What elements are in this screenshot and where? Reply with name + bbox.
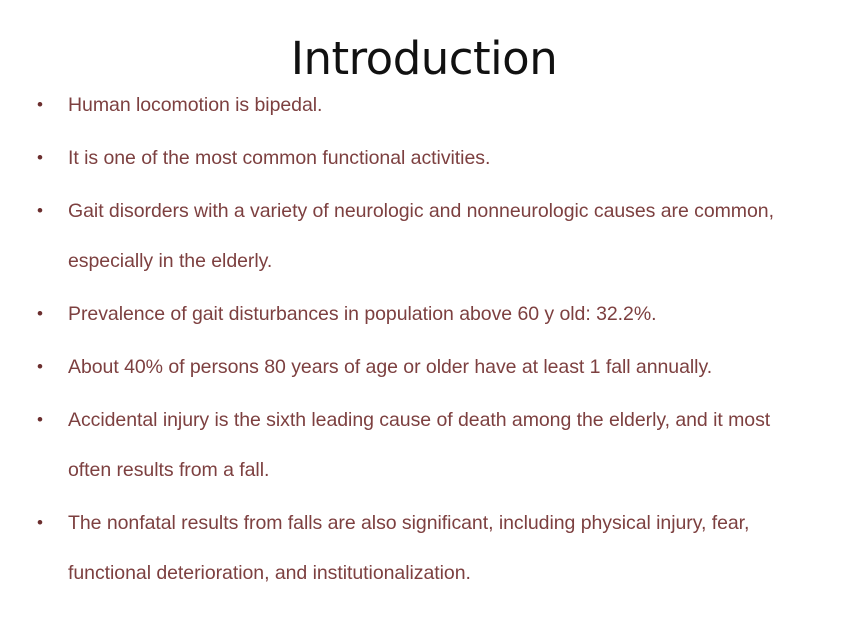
presentation-slide: Introduction • Human locomotion is biped… (0, 0, 848, 636)
list-item-text: Human locomotion is bipedal. (68, 80, 796, 130)
list-item-text: Gait disorders with a variety of neurolo… (68, 186, 796, 286)
list-item: • About 40% of persons 80 years of age o… (0, 342, 848, 392)
list-item: • Human locomotion is bipedal. (0, 80, 848, 130)
page-title: Introduction (0, 34, 848, 84)
list-item-text: The nonfatal results from falls are also… (68, 498, 796, 598)
bullet-point-icon: • (37, 342, 47, 392)
list-item-text: It is one of the most common functional … (68, 133, 796, 183)
bullet-point-icon: • (37, 498, 47, 548)
list-item: • Prevalence of gait disturbances in pop… (0, 289, 848, 339)
bullet-point-icon: • (37, 395, 47, 445)
list-item: • Accidental injury is the sixth leading… (0, 395, 848, 495)
bullet-list: • Human locomotion is bipedal. • It is o… (0, 80, 848, 601)
list-item: • It is one of the most common functiona… (0, 133, 848, 183)
list-item: • Gait disorders with a variety of neuro… (0, 186, 848, 286)
list-item-text: About 40% of persons 80 years of age or … (68, 342, 796, 392)
list-item: • The nonfatal results from falls are al… (0, 498, 848, 598)
bullet-point-icon: • (37, 133, 47, 183)
list-item-text: Accidental injury is the sixth leading c… (68, 395, 796, 495)
bullet-point-icon: • (37, 80, 47, 130)
bullet-point-icon: • (37, 186, 47, 236)
bullet-point-icon: • (37, 289, 47, 339)
list-item-text: Prevalence of gait disturbances in popul… (68, 289, 796, 339)
